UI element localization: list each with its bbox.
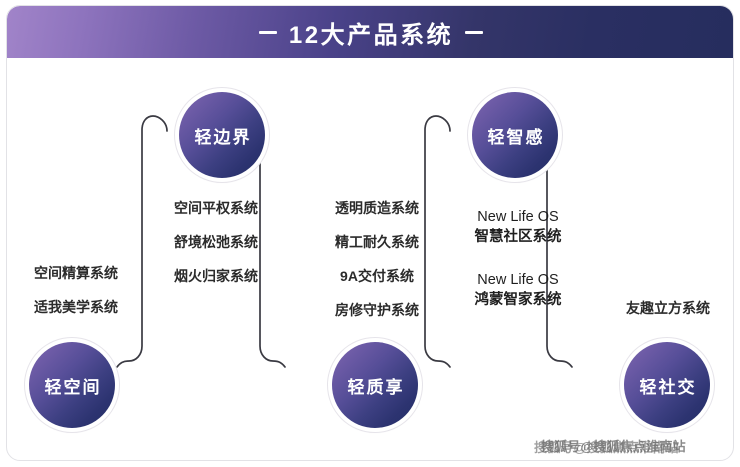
item-text-line2: 鸿蒙智家系统: [459, 291, 577, 311]
page-title-text: 12大产品系统: [289, 15, 453, 50]
item-text: 透明质造系统: [320, 201, 434, 215]
item-text-group: New Life OS 鸿蒙智家系统: [459, 271, 577, 310]
item-text: 9A交付系统: [320, 269, 434, 283]
node-label: 轻社交: [638, 373, 697, 398]
items-light-quality: 透明质造系统 精工耐久系统 9A交付系统 房修守护系统: [320, 201, 434, 317]
node-label: 轻智感: [486, 123, 545, 148]
item-text-line2: 智慧社区系统: [459, 228, 577, 248]
diagram-root: 12大产品系统 空间精算系: [0, 0, 740, 467]
items-light-space: 空间精算系统 适我美学系统: [13, 266, 139, 314]
item-text: 空间平权系统: [159, 201, 273, 215]
item-text-line1: New Life OS: [459, 208, 577, 228]
item-text-line1: New Life OS: [459, 271, 577, 291]
node-light-boundary[interactable]: 轻边界: [179, 92, 265, 178]
item-text: 空间精算系统: [13, 266, 139, 280]
node-light-space[interactable]: 轻空间: [29, 342, 115, 428]
page-title: 12大产品系统: [259, 15, 483, 50]
diagram-canvas: 空间精算系统 适我美学系统 空间平权系统 舒境松弛系统 烟火归家系统 透明质造系…: [7, 58, 734, 461]
node-label: 轻空间: [43, 373, 102, 398]
item-text: 舒境松弛系统: [159, 235, 273, 249]
items-light-smart: New Life OS 智慧社区系统 New Life OS 鸿蒙智家系统: [459, 208, 577, 310]
node-light-smart[interactable]: 轻智感: [472, 92, 558, 178]
item-text: 烟火归家系统: [159, 269, 273, 283]
items-light-boundary: 空间平权系统 舒境松弛系统 烟火归家系统: [159, 201, 273, 283]
node-label: 轻边界: [193, 123, 252, 148]
content-card: 12大产品系统 空间精算系: [6, 5, 734, 461]
item-text: 精工耐久系统: [320, 235, 434, 249]
item-text: 友趣立方系统: [608, 301, 728, 315]
watermark: 搜狐号@搜狐焦点淮南站 搜狐号@搜狐焦点淮南站: [534, 436, 724, 454]
watermark-text-front: 搜狐号@搜狐焦点淮南站: [541, 436, 686, 455]
dash-right-icon: [465, 31, 483, 34]
node-label: 轻质享: [346, 373, 405, 398]
items-light-social: 友趣立方系统: [608, 301, 728, 315]
node-light-quality[interactable]: 轻质享: [332, 342, 418, 428]
dash-left-icon: [259, 31, 277, 34]
item-text: 适我美学系统: [13, 300, 139, 314]
header-banner: 12大产品系统: [7, 6, 734, 58]
node-light-social[interactable]: 轻社交: [624, 342, 710, 428]
item-text: 房修守护系统: [320, 303, 434, 317]
item-text-group: New Life OS 智慧社区系统: [459, 208, 577, 247]
